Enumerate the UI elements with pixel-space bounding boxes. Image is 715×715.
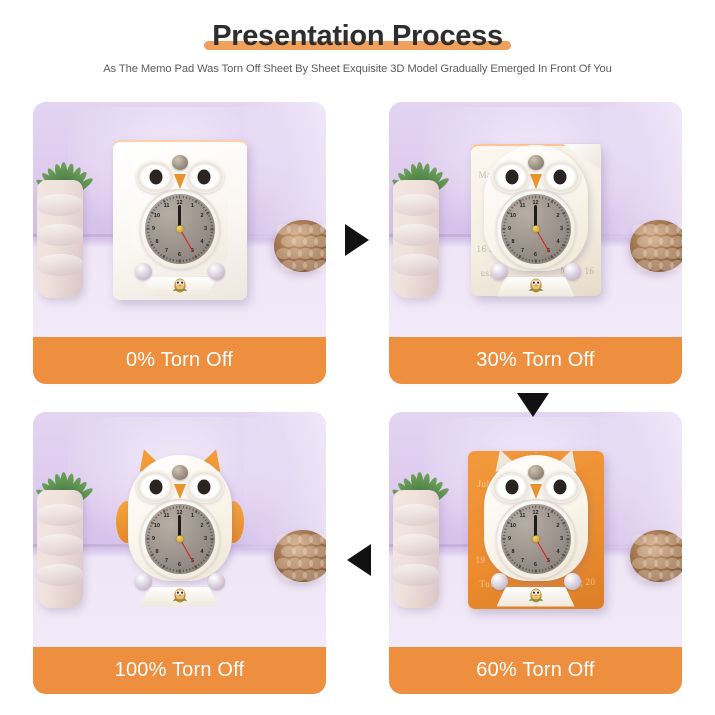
alarm-bell-left	[491, 263, 508, 280]
scene-curtain	[244, 412, 326, 548]
clock-bezel: 121234567891011	[140, 189, 220, 269]
owl-emblem-icon	[171, 586, 188, 604]
ceramic-vase-prop	[37, 490, 83, 608]
owl-pupil-right	[553, 479, 566, 494]
owl-eye-right	[186, 161, 224, 193]
clock-bezel: 121234567891011	[496, 189, 576, 269]
step-caption-3: 60% Torn Off	[389, 647, 682, 694]
clock-center-pin	[532, 535, 539, 542]
owl-clock-figure: 121234567891011	[128, 455, 232, 605]
owl-eye-left	[136, 161, 174, 193]
pinecone-prop	[274, 530, 326, 582]
step-caption-label-3: 60% Torn Off	[476, 659, 594, 682]
alarm-knob-icon	[172, 155, 188, 170]
step-caption-label-2: 100% Torn Off	[115, 659, 245, 682]
clock-bezel: 121234567891011	[496, 499, 576, 579]
owl-emblem-icon	[527, 586, 544, 604]
owl-pupil-right	[197, 169, 210, 184]
alarm-knob-icon	[528, 465, 544, 480]
owl-eye-left	[492, 161, 530, 193]
clock-center-pin	[176, 225, 183, 232]
step-card-1[interactable]: March 16 Sun. us. Mon. 16	[389, 102, 682, 384]
clock-dial: 121234567891011	[145, 504, 215, 574]
owl-pupil-left	[505, 169, 518, 184]
clock-second-hand	[535, 538, 550, 562]
page-title: Presentation Process	[212, 18, 503, 54]
product-photo-0: 121234567891011	[33, 102, 326, 337]
scene-curtain	[244, 102, 326, 238]
clock-second-hand	[179, 228, 194, 252]
step-caption-1: 30% Torn Off	[389, 337, 682, 384]
arrow-left-icon	[347, 544, 371, 576]
owl-eye-right	[542, 471, 580, 503]
alarm-bell-right	[564, 573, 581, 590]
pinecone-prop	[630, 220, 682, 272]
title-wrapper: Presentation Process	[212, 18, 503, 54]
owl-clock-figure: 121234567891011	[484, 145, 588, 295]
alarm-knob-icon	[528, 155, 544, 170]
presentation-step-grid: 121234567891011	[0, 96, 715, 708]
step-caption-label-0: 0% Torn Off	[126, 349, 233, 372]
arrow-down-icon	[517, 393, 549, 417]
product-photo-1: March 16 Sun. us. Mon. 16	[389, 102, 682, 337]
owl-base-assembly	[137, 577, 223, 607]
page-header: Presentation Process As The Memo Pad Was…	[0, 0, 715, 75]
scene-curtain	[600, 102, 682, 238]
owl-eye-right	[186, 471, 224, 503]
alarm-bell-right	[564, 263, 581, 280]
arrow-right-icon	[345, 224, 369, 256]
step-caption-2: 100% Torn Off	[33, 647, 326, 694]
clock-dial: 121234567891011	[501, 194, 571, 264]
step-caption-label-1: 30% Torn Off	[476, 349, 594, 372]
pinecone-prop	[274, 220, 326, 272]
owl-pupil-left	[149, 169, 162, 184]
clock-second-hand	[179, 538, 194, 562]
owl-pupil-right	[553, 169, 566, 184]
step-card-3[interactable]: July 19 Tue. Aug 20	[389, 412, 682, 694]
alarm-bell-left	[135, 263, 152, 280]
page-subtitle: As The Memo Pad Was Torn Off Sheet By Sh…	[0, 63, 715, 75]
step-caption-0: 0% Torn Off	[33, 337, 326, 384]
ceramic-vase-prop	[393, 180, 439, 298]
clock-center-pin	[176, 535, 183, 542]
scene-curtain	[600, 412, 682, 548]
step-card-0[interactable]: 121234567891011	[33, 102, 326, 384]
owl-clock-figure: 121234567891011	[128, 145, 232, 295]
product-photo-3: July 19 Tue. Aug 20	[389, 412, 682, 647]
alarm-bell-right	[208, 263, 225, 280]
owl-emblem-icon	[527, 276, 544, 294]
owl-emblem-icon	[171, 276, 188, 294]
owl-beak-icon	[174, 484, 186, 499]
alarm-bell-left	[491, 573, 508, 590]
owl-beak-icon	[530, 484, 542, 499]
ceramic-vase-prop	[393, 490, 439, 608]
owl-base-assembly	[493, 577, 579, 607]
clock-bezel: 121234567891011	[140, 499, 220, 579]
alarm-bell-right	[208, 573, 225, 590]
alarm-bell-left	[135, 573, 152, 590]
clock-dial: 121234567891011	[145, 194, 215, 264]
owl-base-assembly	[493, 267, 579, 297]
owl-eye-left	[136, 471, 174, 503]
clock-second-hand	[535, 228, 550, 252]
step-card-2[interactable]: 121234567891011	[33, 412, 326, 694]
owl-base-assembly	[137, 267, 223, 297]
owl-beak-icon	[530, 174, 542, 189]
pinecone-prop	[630, 530, 682, 582]
clock-center-pin	[532, 225, 539, 232]
owl-clock-figure: 121234567891011	[484, 455, 588, 605]
owl-pupil-left	[505, 479, 518, 494]
owl-eye-right	[542, 161, 580, 193]
owl-pupil-left	[149, 479, 162, 494]
ceramic-vase-prop	[37, 180, 83, 298]
clock-dial: 121234567891011	[501, 504, 571, 574]
owl-beak-icon	[174, 174, 186, 189]
alarm-knob-icon	[172, 465, 188, 480]
product-photo-2: 121234567891011	[33, 412, 326, 647]
owl-pupil-right	[197, 479, 210, 494]
owl-eye-left	[492, 471, 530, 503]
